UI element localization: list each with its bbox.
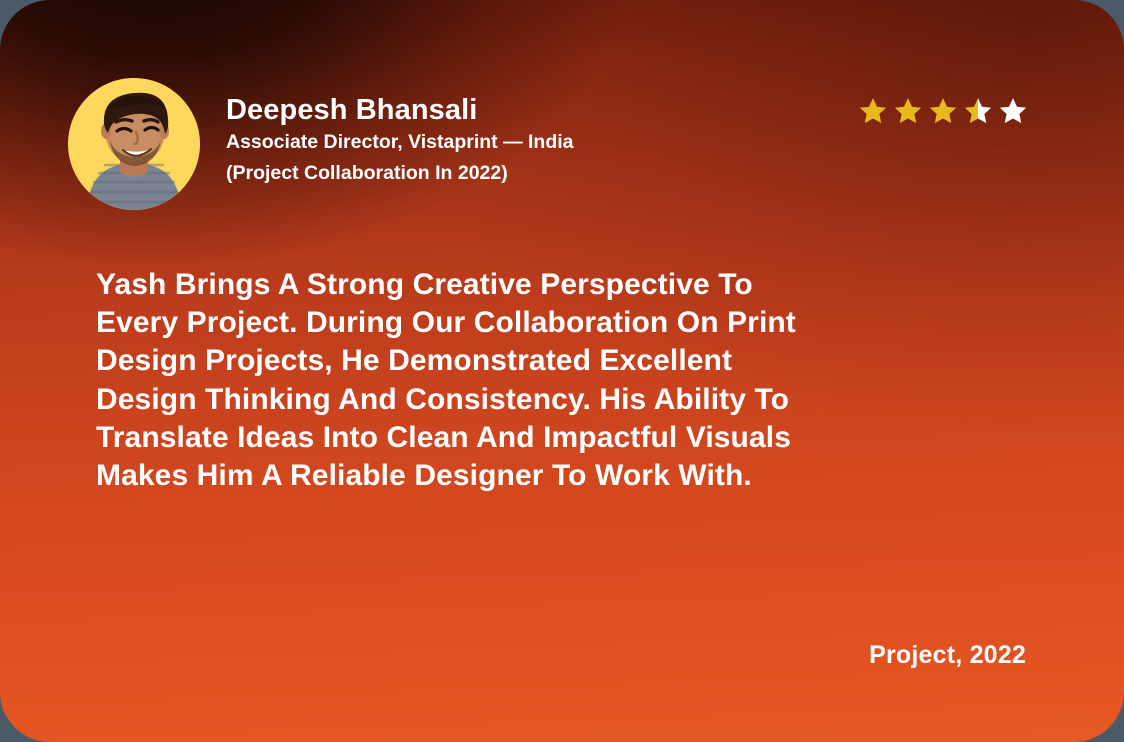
- star-half-icon: [963, 96, 993, 126]
- star-icon: [928, 96, 958, 126]
- identity-block: Deepesh Bhansali Associate Director, Vis…: [226, 93, 574, 189]
- avatar-photo: [68, 78, 200, 210]
- person-role: Associate Director, Vistaprint — India: [226, 127, 574, 158]
- card-header: Deepesh Bhansali Associate Director, Vis…: [68, 78, 1056, 212]
- rating-stars: [858, 96, 1028, 126]
- star-outline-icon: [998, 96, 1028, 126]
- person-context: (Project Collaboration In 2022): [226, 158, 574, 189]
- avatar: [68, 78, 200, 210]
- testimonial-quote: Yash Brings A Strong Creative Perspectiv…: [96, 266, 796, 495]
- star-icon: [893, 96, 923, 126]
- star-icon: [858, 96, 888, 126]
- testimonial-card: Deepesh Bhansali Associate Director, Vis…: [0, 0, 1124, 742]
- project-label: Project, 2022: [869, 641, 1026, 670]
- person-name: Deepesh Bhansali: [226, 93, 574, 127]
